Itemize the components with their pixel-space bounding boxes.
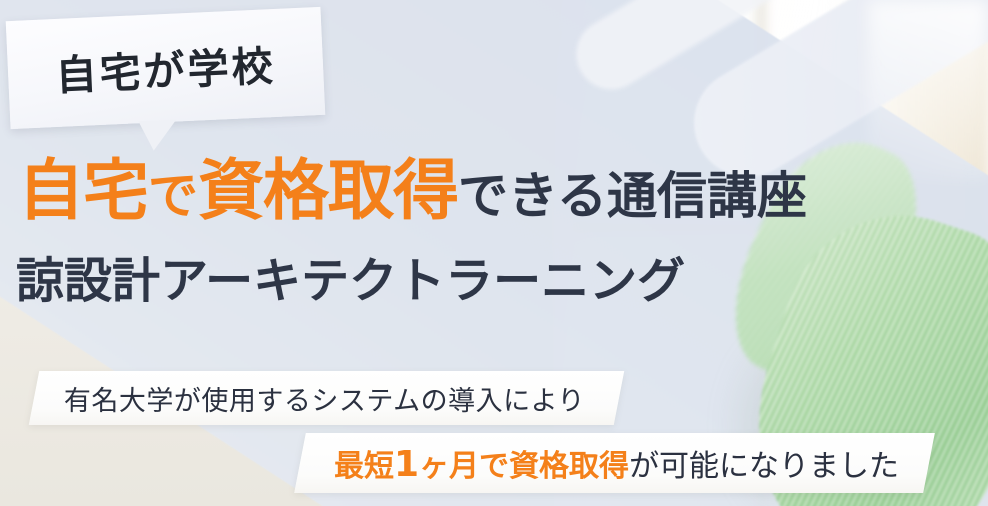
headline-part-dekiru-tsushin-kouza: できる通信講座 — [458, 167, 807, 225]
headline-part-de: で — [148, 167, 198, 225]
headline-part-shikaku-shutoku: 資格取得 — [198, 152, 458, 229]
band-shortest-emphasis-pre: 最短 — [334, 449, 394, 484]
speech-bubble-tail-icon — [138, 120, 177, 152]
hero-banner: 自宅が学校 自宅で資格取得できる通信講座 諒設計アーキテクトラーニング 有名大学… — [0, 0, 988, 506]
band-shortest-number: 1 — [394, 444, 419, 485]
band-university-label: 有名大学が使用するシステムの導入により — [64, 379, 585, 418]
band-shortest-tail: が可能になりました — [629, 449, 899, 484]
brand-name: 諒設計アーキテクトラーニング — [16, 255, 685, 308]
speech-bubble: 自宅が学校 — [6, 7, 326, 129]
band-university: 有名大学が使用するシステムの導入により — [29, 371, 625, 425]
band-shortest-emphasis-post: ヶ月で資格取得 — [419, 449, 629, 484]
page-title: 自宅で資格取得できる通信講座 — [18, 158, 807, 224]
band-shortest-label: 最短1ヶ月で資格取得が可能になりました — [334, 441, 899, 485]
band-shortest: 最短1ヶ月で資格取得が可能になりました — [294, 433, 935, 493]
speech-bubble-label: 自宅が学校 — [6, 7, 326, 129]
headline-part-jitaku: 自宅 — [18, 152, 148, 229]
